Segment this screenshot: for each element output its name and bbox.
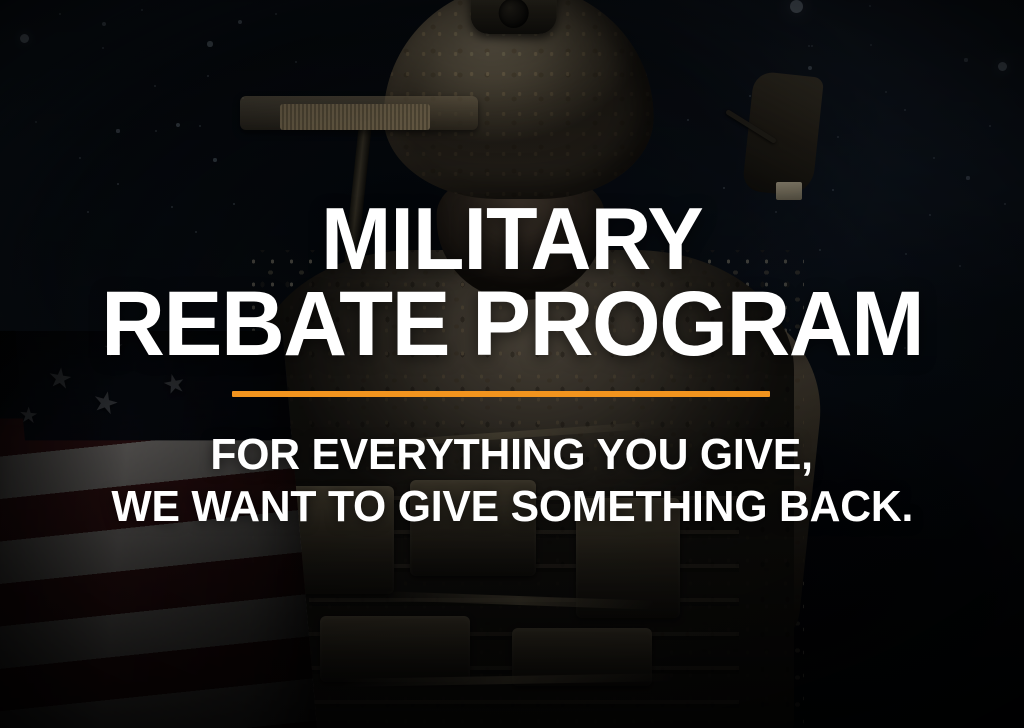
star-dot [154, 85, 156, 87]
flag-shadow-overlay [0, 331, 319, 728]
star-dot [964, 58, 967, 61]
vest-pouch [410, 480, 536, 576]
star-dot [87, 211, 90, 214]
star-dot [20, 34, 29, 43]
star-dot [933, 157, 935, 159]
ir-patch [776, 182, 802, 200]
star-dot [155, 130, 157, 132]
star-dot [171, 206, 173, 208]
star-dot [905, 253, 907, 255]
star-dot [207, 41, 212, 46]
star-dot [859, 299, 861, 301]
star-dot [116, 129, 119, 132]
star-dot [141, 9, 143, 11]
nvg-knob [499, 0, 529, 28]
comms-headset-icon [742, 71, 824, 198]
star-dot [35, 121, 37, 123]
star-dot [989, 125, 992, 128]
star-dot [102, 22, 106, 26]
star-dot [904, 109, 906, 111]
nvg-mount-icon [471, 0, 557, 34]
soldier-figure [224, 0, 824, 728]
star-dot [885, 91, 887, 93]
star-dot [837, 136, 839, 138]
star-dot [869, 5, 871, 7]
star-dot [117, 183, 120, 186]
star-dot [79, 157, 81, 159]
star-dot [959, 265, 961, 267]
star-dot [199, 125, 201, 127]
star-dot [870, 44, 872, 46]
star-dot [966, 176, 969, 179]
star-dot [213, 158, 216, 161]
star-dot [207, 75, 210, 78]
american-flag: ★★★★★★ [0, 331, 319, 728]
star-dot [176, 123, 180, 127]
military-rebate-banner: ★★★★★★ MILITARY REBATE PROGRAM FOR EVERY… [0, 0, 1024, 728]
star-dot [998, 62, 1007, 71]
star-dot [59, 13, 62, 16]
star-dot [195, 231, 197, 233]
star-dot [904, 347, 906, 349]
helmet-velcro-strip [280, 104, 430, 130]
star-dot [832, 189, 834, 191]
vest-pouch [320, 616, 470, 682]
star-dot [1004, 203, 1007, 206]
star-dot [102, 47, 104, 49]
star-dot [929, 214, 931, 216]
